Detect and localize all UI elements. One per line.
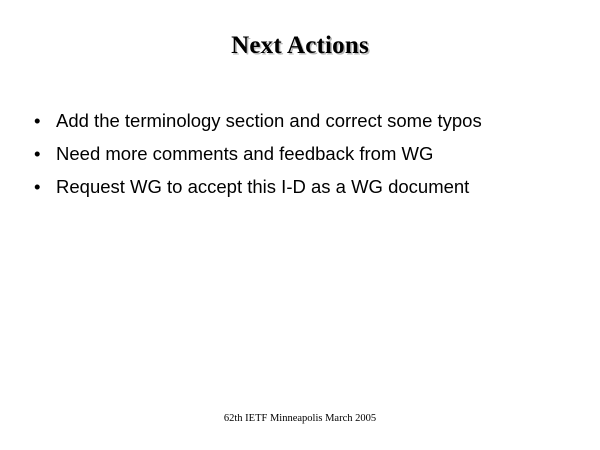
list-item-label: Add the terminology section and correct … — [56, 110, 482, 131]
slide-footer: 62th IETF Minneapolis March 2005 — [0, 412, 600, 426]
list-item: • Add the terminology section and correc… — [28, 107, 572, 135]
list-item: • Request WG to accept this I-D as a WG … — [28, 173, 572, 201]
bullet-dot-icon: • — [34, 173, 40, 201]
bullet-list: • Add the terminology section and correc… — [28, 107, 572, 206]
presentation-slide: Next Actions • Add the terminology secti… — [0, 0, 600, 450]
bullet-dot-icon: • — [34, 140, 40, 168]
list-item-label: Need more comments and feedback from WG — [56, 143, 433, 164]
list-item: • Need more comments and feedback from W… — [28, 140, 572, 168]
page-title: Next Actions — [0, 31, 600, 61]
bullet-dot-icon: • — [34, 107, 40, 135]
list-item-label: Request WG to accept this I-D as a WG do… — [56, 176, 469, 197]
